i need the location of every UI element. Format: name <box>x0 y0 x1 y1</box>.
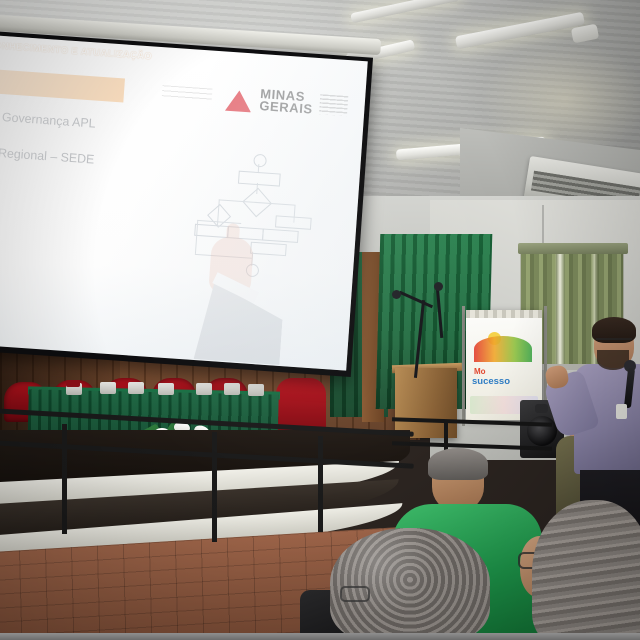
banner-title-line1: Mo <box>474 367 486 376</box>
speaker-cone <box>527 416 557 446</box>
slide-bullet: Questionário – Governança APL <box>0 104 248 141</box>
table-place-setting <box>128 382 144 394</box>
table-place-setting <box>248 384 264 396</box>
hair <box>428 448 488 480</box>
glasses-icon <box>596 338 632 348</box>
slide-secondary-logo <box>162 85 213 102</box>
triangle-icon <box>225 90 252 113</box>
slide-bullet: iação – SEDE <box>0 210 240 247</box>
name-badge <box>616 404 627 419</box>
table-place-setting <box>158 383 174 395</box>
flow-box <box>275 215 312 229</box>
microphone-head <box>434 282 443 291</box>
railing-post <box>318 436 323 532</box>
blind-headrail <box>518 243 628 254</box>
window-light-gap <box>555 254 565 366</box>
table-place-setting <box>224 383 240 395</box>
logo-line-2: GERAIS <box>259 100 313 116</box>
banner-top-bar <box>466 310 542 318</box>
banner-arc-graphic <box>474 336 532 362</box>
railing-post <box>212 432 217 542</box>
image-bottom-border <box>0 633 640 640</box>
projection-screen: CONHECIMENTO E ATUALIZAÇÃO MINAS GERAIS <box>0 30 373 377</box>
railing-post <box>62 424 67 534</box>
banner-pole <box>462 306 465 426</box>
slide-header-label: CONHECIMENTO E ATUALIZAÇÃO <box>0 40 152 62</box>
triangle-notch <box>246 111 255 120</box>
minas-gerais-logo: MINAS GERAIS <box>225 84 347 122</box>
logo-text: MINAS GERAIS <box>259 88 314 116</box>
hair <box>532 500 640 640</box>
projected-slide: CONHECIMENTO E ATUALIZAÇÃO MINAS GERAIS <box>0 34 368 370</box>
slide-bullet: SEDE <box>0 175 243 212</box>
flow-start-node <box>253 154 267 168</box>
table-place-setting <box>100 382 116 394</box>
microphone-head <box>392 290 401 299</box>
audience-woman-long-gray-hair <box>512 500 640 640</box>
banner-title-line2: sucesso <box>472 376 510 387</box>
slide-header-banner <box>0 65 125 102</box>
audience-woman-curly-hair <box>330 528 490 640</box>
logo-subtext <box>319 94 348 116</box>
table-place-setting <box>196 383 212 395</box>
conference-photo-scene: Mo sucesso CONHECIMENTO E ATUALIZAÇÃO <box>0 0 640 640</box>
speaker-tweeter <box>535 404 548 413</box>
table-place-setting <box>66 380 80 387</box>
glasses-icon <box>340 586 370 602</box>
slide-bullet: senvolvimento Regional – SEDE <box>0 140 245 177</box>
hair <box>330 528 490 640</box>
slide-bullet-list: Questionário – Governança APL senvolvime… <box>0 104 248 269</box>
